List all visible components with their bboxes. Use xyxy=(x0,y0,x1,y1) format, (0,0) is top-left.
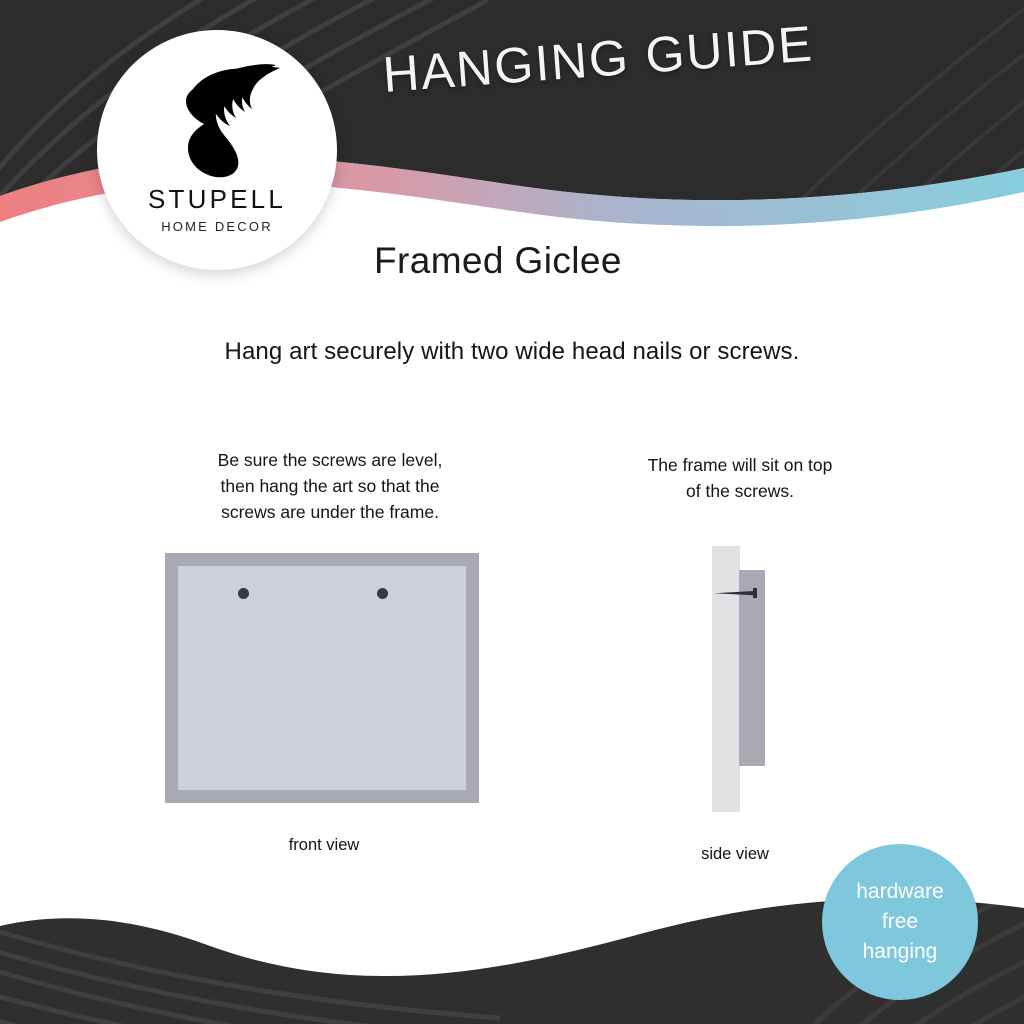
hardware-badge-line-1: hardware xyxy=(856,877,944,907)
front-view-mat xyxy=(178,566,466,790)
side-view-frame xyxy=(739,570,765,766)
brand-logo-badge: STUPELL HOME DECOR xyxy=(97,30,337,270)
brand-tagline: HOME DECOR xyxy=(161,219,273,234)
front-view-label: front view xyxy=(180,836,468,855)
hardware-badge-line-2: free xyxy=(882,907,918,937)
side-view-label: side view xyxy=(640,845,830,864)
brand-name: STUPELL xyxy=(148,184,286,215)
screw-dot-left-icon xyxy=(238,588,249,599)
screw-dot-right-icon xyxy=(377,588,388,599)
hardware-badge-line-3: hanging xyxy=(863,937,938,967)
product-title: Framed Giclee xyxy=(374,240,622,282)
side-view-diagram xyxy=(700,543,810,815)
nail-side-profile-icon xyxy=(714,588,762,598)
hanging-guide-page: HANGING GUIDE STUPELL HOME DECOR Framed … xyxy=(0,0,1024,1024)
side-view-caption: The frame will sit on top of the screws. xyxy=(590,452,890,504)
lead-instruction: Hang art securely with two wide head nai… xyxy=(0,338,1024,366)
front-view-diagram xyxy=(165,553,479,803)
hardware-free-hanging-badge: hardware free hanging xyxy=(822,844,978,1000)
front-view-caption: Be sure the screws are level, then hang … xyxy=(150,447,510,525)
side-view-wall xyxy=(712,546,740,812)
stupell-swoosh-icon xyxy=(152,62,282,180)
